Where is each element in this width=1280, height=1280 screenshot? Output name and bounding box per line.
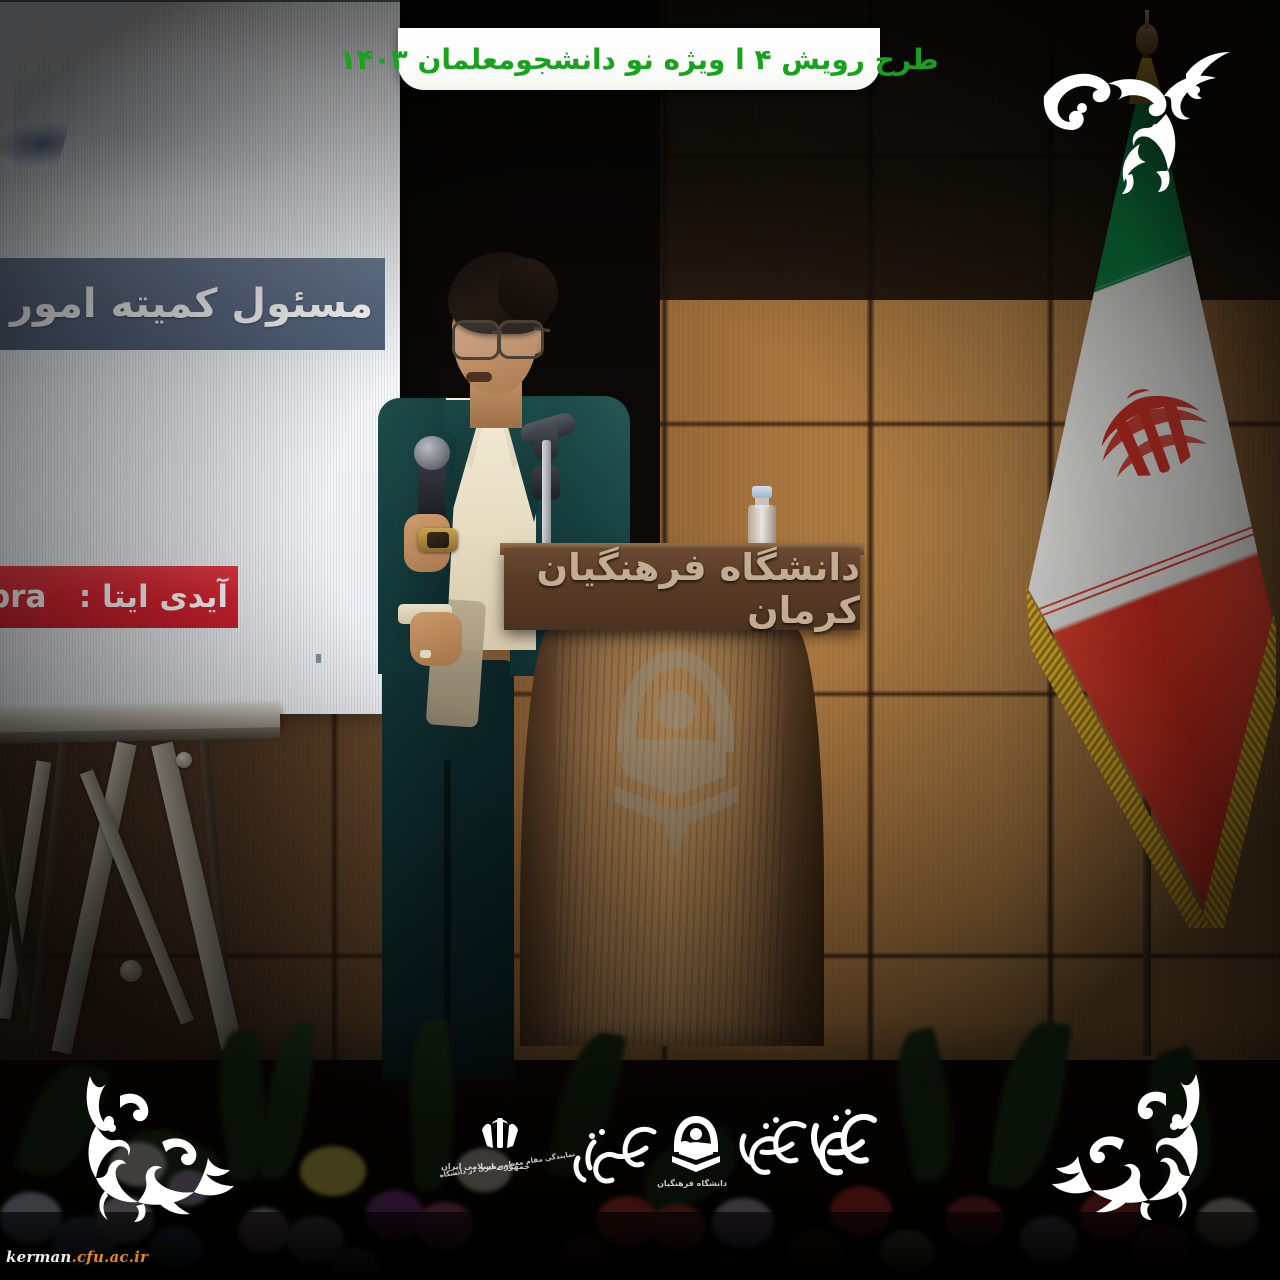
logo-caption: دانشگاه فرهنگیان — [663, 1179, 727, 1188]
corner-ornament-bottom-right — [1042, 1070, 1242, 1226]
sponsor-logo-strip: جمهوری اسلامی ایران نمایندگی مقام معظم ر… — [440, 1100, 860, 1210]
watermark-prefix: kerman — [6, 1248, 72, 1266]
basij-calligraphy-icon — [810, 1106, 880, 1186]
tarh-rooyesh-calligraphy-icon — [568, 1118, 660, 1194]
corner-ornament-top-right — [1036, 34, 1236, 194]
event-title-banner: طرح رویش ۴ ا ویژه نو دانشجومعلمان ۱۴۰۳ — [398, 28, 880, 90]
watermark-suffix: .cfu.ac.ir — [72, 1248, 149, 1266]
site-watermark: kerman.cfu.ac.ir — [6, 1248, 148, 1266]
event-title-text: طرح رویش ۴ ا ویژه نو دانشجومعلمان ۱۴۰۳ — [339, 43, 938, 76]
nahad-calligraphy-icon — [736, 1110, 810, 1184]
corner-ornament-bottom-left — [44, 1072, 234, 1222]
farhangian-university-logo-icon: دانشگاه فرهنگیان — [668, 1112, 727, 1188]
event-photo-frame: مسئول کمیته امور آیدی ایتا : bra — [0, 0, 1280, 1280]
